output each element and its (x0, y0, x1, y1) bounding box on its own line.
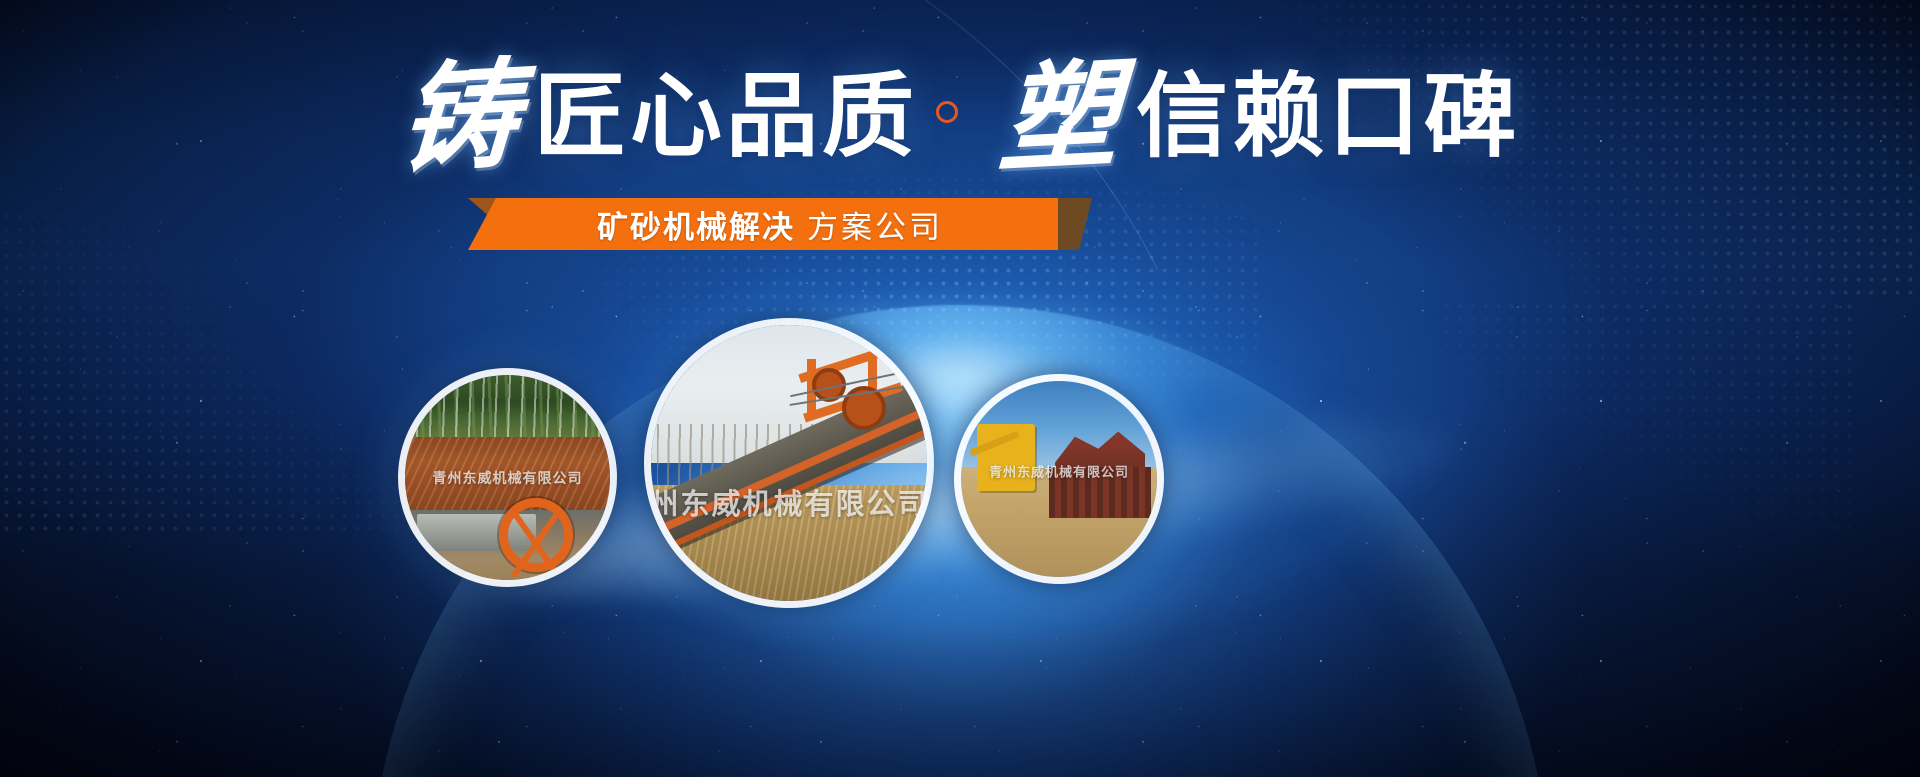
circle-separator-icon (936, 101, 958, 123)
photo-right-plant-frame (1049, 467, 1151, 518)
hero-banner: 铸 匠心品质 塑 信赖口碑 矿砂机械解决 方案公司 青州东威机械有限公司 (0, 0, 1920, 777)
headline-phrase-2: 信赖口碑 (1136, 71, 1520, 163)
photo-inner-center: 州东威机械有限公司 (651, 325, 927, 601)
photo-inner-right: 青州东威机械有限公司 (961, 381, 1157, 577)
photo-left-red-soil (405, 437, 610, 519)
headline-brush-char-1: 铸 (397, 55, 520, 179)
photo-sand-washing-machine-hillside[interactable]: 青州东威机械有限公司 (398, 368, 617, 587)
photo-conveyor-belt-sand-pile[interactable]: 州东威机械有限公司 (644, 318, 934, 608)
photo-inner-left: 青州东威机械有限公司 (405, 375, 610, 580)
photo-loader-screening-plant[interactable]: 青州东威机械有限公司 (954, 374, 1164, 584)
ribbon-text-light: 方案公司 (807, 202, 943, 247)
headline-brush-char-2: 塑 (997, 55, 1120, 179)
headline-group: 铸 匠心品质 塑 信赖口碑 (0, 52, 1920, 182)
photo-left-bucket-wheel (499, 498, 573, 572)
ribbon-text-bold: 矿砂机械解决 (597, 202, 795, 247)
headline-phrase-1: 匠心品质 (534, 71, 918, 163)
subtitle-ribbon: 矿砂机械解决 方案公司 (0, 198, 1920, 254)
photo-center-drive-head (789, 353, 916, 452)
ribbon-text-group: 矿砂机械解决 方案公司 (468, 198, 1072, 250)
